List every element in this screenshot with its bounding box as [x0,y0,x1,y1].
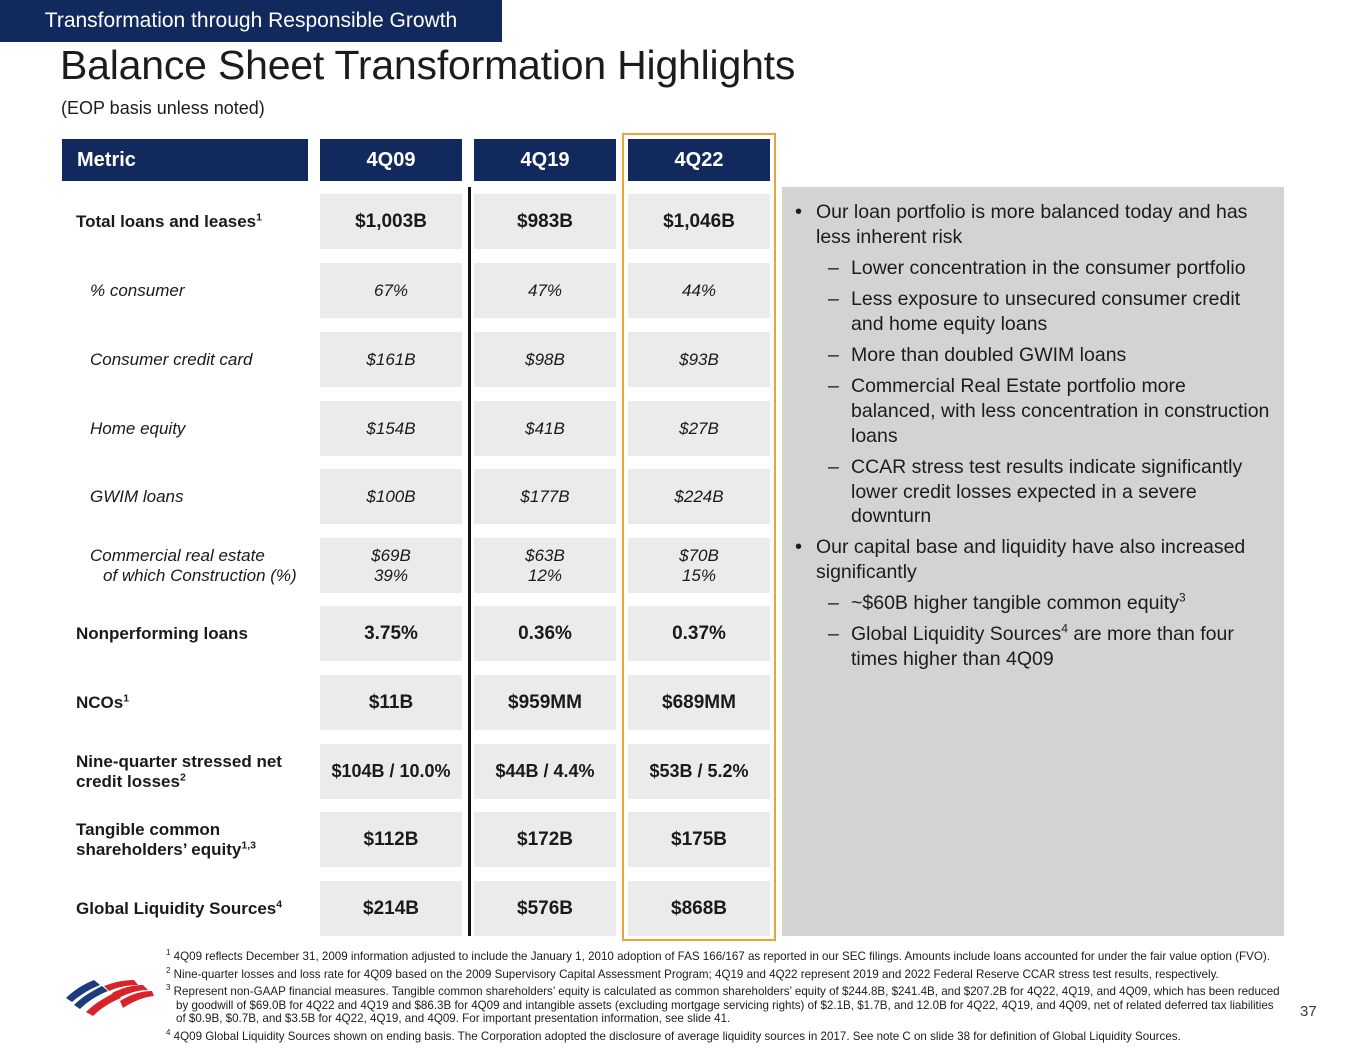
table-cell: $983B [474,194,616,249]
table-cell: $69B39% [320,538,462,593]
table-cell: 0.36% [474,606,616,661]
bullet-item-level1: •Our capital base and liquidity have als… [795,535,1273,585]
bullet-text: Lower concentration in the consumer port… [851,256,1273,281]
table-header-metric: Metric [62,139,308,181]
table-cell: 0.37% [628,606,770,661]
bank-of-america-logo-icon [64,972,156,1018]
table-cell: $63B12% [474,538,616,593]
table-row: GWIM loans$100B$177B$224B [62,469,770,524]
table-cell: $104B / 10.0% [320,744,462,799]
row-label: % consumer [62,263,316,318]
bullet-text: Less exposure to unsecured consumer cred… [851,287,1273,337]
table-cell: $70B15% [628,538,770,593]
bullet-item-level2: –Lower concentration in the consumer por… [795,256,1273,281]
table-row: Commercial real estateof which Construct… [62,538,770,593]
bullet-text: Our capital base and liquidity have also… [816,535,1273,585]
right-panel-header: Transformation through Responsible Growt… [0,0,502,42]
bullet-marker-icon: • [795,535,816,585]
table-header-4q19: 4Q19 [474,139,616,181]
row-label: Tangible commonshareholders’ equity1,3 [62,812,316,867]
table-cell: $154B [320,401,462,456]
row-label: Home equity [62,401,316,456]
footnote-line: 4 4Q09 Global Liquidity Sources shown on… [166,1026,1286,1044]
bullet-item-level2: –CCAR stress test results indicate signi… [795,455,1273,530]
page-title: Balance Sheet Transformation Highlights [60,42,795,89]
table-row: Global Liquidity Sources4$214B$576B$868B [62,881,770,936]
bullet-text: Global Liquidity Sources4 are more than … [851,622,1273,672]
table-cell: 44% [628,263,770,318]
table-cell: 3.75% [320,606,462,661]
table-cell: $53B / 5.2% [628,744,770,799]
footnote-line: by goodwill of $69.0B for 4Q22 and 4Q19 … [166,999,1286,1013]
bullet-item-level2: –More than doubled GWIM loans [795,343,1273,368]
row-label: Nine-quarter stressed netcredit losses2 [62,744,316,799]
table-row: Consumer credit card$161B$98B$93B [62,332,770,387]
bullet-marker-icon: – [828,591,851,616]
bullet-item-level2: –Global Liquidity Sources4 are more than… [795,622,1273,672]
table-cell: $868B [628,881,770,936]
bullet-list: •Our loan portfolio is more balanced tod… [795,200,1273,678]
table-row: Tangible commonshareholders’ equity1,3$1… [62,812,770,867]
bullet-text: Commercial Real Estate portfolio more ba… [851,374,1273,449]
bullet-marker-icon: • [795,200,816,250]
bullet-marker-icon: – [828,287,851,337]
bullet-text: Our loan portfolio is more balanced toda… [816,200,1273,250]
row-label: NCOs1 [62,675,316,730]
bullet-item-level2: –~$60B higher tangible common equity3 [795,591,1273,616]
table-cell: $100B [320,469,462,524]
table-header-4q22: 4Q22 [628,139,770,181]
table-cell: $11B [320,675,462,730]
table-cell: $44B / 4.4% [474,744,616,799]
table-cell: $576B [474,881,616,936]
row-label: Commercial real estateof which Construct… [62,538,316,593]
footnote-line: 3 Represent non-GAAP financial measures.… [166,981,1286,999]
bullet-marker-icon: – [828,622,851,672]
bullet-marker-icon: – [828,374,851,449]
bullet-marker-icon: – [828,455,851,530]
table-cell: $959MM [474,675,616,730]
footnotes: 1 4Q09 reflects December 31, 2009 inform… [166,946,1286,1044]
slide-canvas: Balance Sheet Transformation Highlights … [0,0,1365,1055]
table-cell: $172B [474,812,616,867]
table-cell: $27B [628,401,770,456]
table-cell: $41B [474,401,616,456]
row-label: Global Liquidity Sources4 [62,881,316,936]
table-cell: $214B [320,881,462,936]
table-cell: 47% [474,263,616,318]
table-cell: $689MM [628,675,770,730]
row-label: Total loans and leases1 [62,194,316,249]
page-subtitle: (EOP basis unless noted) [61,98,265,119]
bullet-text: More than doubled GWIM loans [851,343,1273,368]
table-header-4q09: 4Q09 [320,139,462,181]
table-cell: $112B [320,812,462,867]
row-label: Consumer credit card [62,332,316,387]
table-row: Home equity$154B$41B$27B [62,401,770,456]
bullet-item-level1: •Our loan portfolio is more balanced tod… [795,200,1273,250]
table-cell: $98B [474,332,616,387]
page-number: 37 [1300,1003,1317,1020]
table-cell: 67% [320,263,462,318]
row-label: Nonperforming loans [62,606,316,661]
row-label: GWIM loans [62,469,316,524]
bullet-text: ~$60B higher tangible common equity3 [851,591,1273,616]
bullet-marker-icon: – [828,343,851,368]
table-cell: $224B [628,469,770,524]
table-row: Nine-quarter stressed netcredit losses2$… [62,744,770,799]
bullet-marker-icon: – [828,256,851,281]
footnote-line: 2 Nine-quarter losses and loss rate for … [166,964,1286,982]
table-cell: $1,003B [320,194,462,249]
table-cell: $1,046B [628,194,770,249]
table-cell: $161B [320,332,462,387]
table-cell: $177B [474,469,616,524]
table-row: Nonperforming loans3.75%0.36%0.37% [62,606,770,661]
footnote-line: of $0.9B, $0.7B, and $3.5B for 4Q22, 4Q1… [166,1012,1286,1026]
bullet-item-level2: –Commercial Real Estate portfolio more b… [795,374,1273,449]
bullet-text: CCAR stress test results indicate signif… [851,455,1273,530]
table-row: Total loans and leases1$1,003B$983B$1,04… [62,194,770,249]
table-row: NCOs1$11B$959MM$689MM [62,675,770,730]
footnote-line: 1 4Q09 reflects December 31, 2009 inform… [166,946,1286,964]
bullet-item-level2: –Less exposure to unsecured consumer cre… [795,287,1273,337]
table-cell: $175B [628,812,770,867]
table-cell: $93B [628,332,770,387]
table-row: % consumer67%47%44% [62,263,770,318]
